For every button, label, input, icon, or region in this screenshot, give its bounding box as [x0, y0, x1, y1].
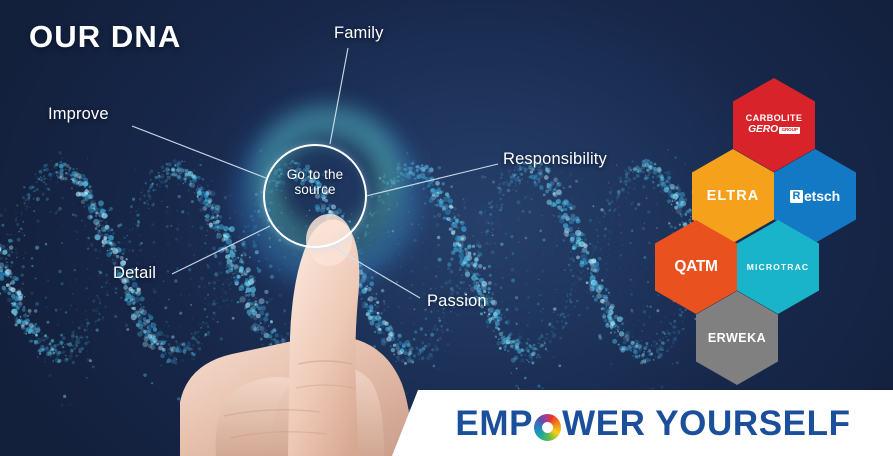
banner-tagline-part1: EMP	[455, 404, 533, 444]
gero-group-badge: GROUP	[779, 127, 799, 134]
line-improve	[132, 126, 266, 178]
node-label-improve[interactable]: Improve	[48, 105, 109, 124]
hub-label-line2: source	[294, 182, 335, 197]
gero-wordmark: GERO	[748, 125, 778, 135]
node-label-passion[interactable]: Passion	[427, 292, 487, 311]
banner-tagline: EMPWER YOURSELF	[418, 398, 888, 450]
eltra-logo: ELTRA	[707, 189, 760, 204]
node-label-family[interactable]: Family	[334, 24, 383, 43]
line-responsibility	[366, 164, 498, 196]
hub-label-line1: Go to the	[287, 167, 343, 182]
carbolite-wordmark: CARBOLITE	[746, 114, 803, 123]
line-family	[330, 48, 348, 144]
brand-hexagon-cluster: CARBOLITE GERO GROUP ELTRA R etsch QATM …	[655, 78, 893, 368]
dna-infographic-slide: Go to the source OUR DNA Family Improve …	[0, 0, 893, 456]
erweka-logo: ERWEKA	[708, 332, 766, 345]
node-label-detail[interactable]: Detail	[113, 264, 156, 283]
retsch-logo: R etsch	[790, 189, 840, 203]
line-passion	[330, 245, 420, 298]
qatm-logo: QATM	[674, 259, 717, 275]
banner-tagline-part2: WER YOURSELF	[562, 404, 851, 444]
microtrac-logo: MICROTRAC	[747, 263, 809, 272]
node-label-responsibility[interactable]: Responsibility	[503, 150, 607, 169]
retsch-wordmark: etsch	[804, 189, 840, 203]
page-title: OUR DNA	[29, 19, 181, 55]
line-detail	[172, 226, 270, 274]
carbolite-gero-logo: CARBOLITE GERO GROUP	[746, 114, 803, 135]
rainbow-ring-icon	[534, 414, 561, 441]
retsch-r-box: R	[790, 190, 803, 203]
hub-label: Go to the source	[263, 167, 367, 197]
